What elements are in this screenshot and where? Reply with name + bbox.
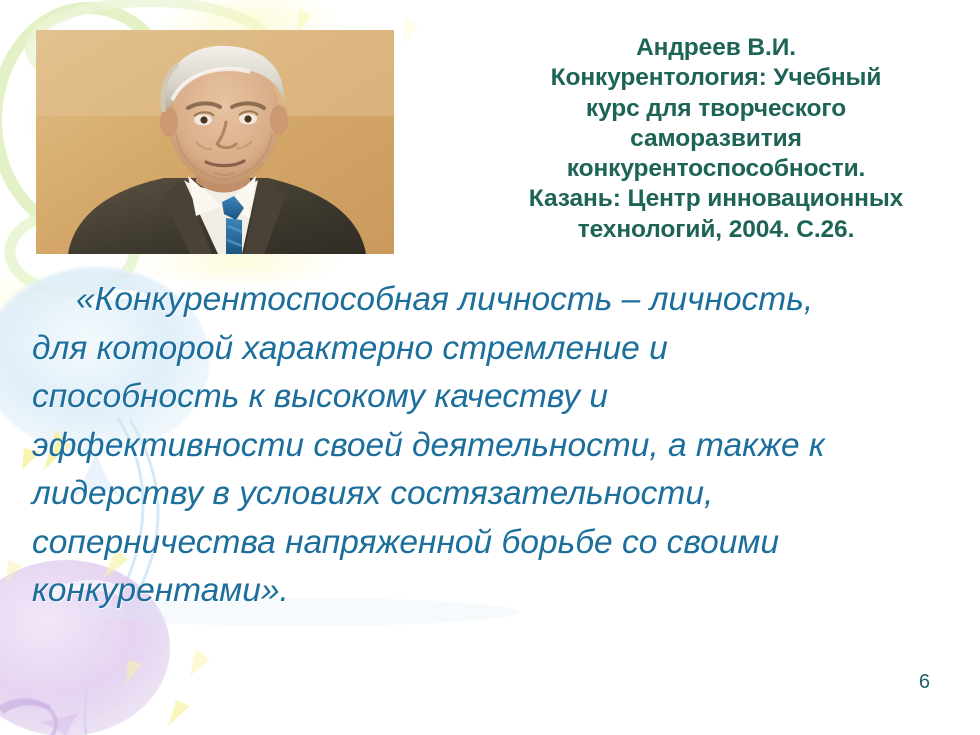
citation-line: курс для творческого	[470, 94, 962, 124]
citation-line: Казань: Центр инновационных	[470, 184, 962, 214]
citation-line: Конкурентология: Учебный	[470, 63, 962, 93]
quote-line: конкурентами».	[32, 567, 952, 616]
portrait-photo-andreev	[36, 30, 394, 254]
quote-block: «Конкурентоспособная личность – личность…	[32, 276, 952, 616]
quote-line: «Конкурентоспособная личность – личность…	[32, 276, 952, 325]
quote-line: для которой характерно стремление и	[32, 325, 952, 374]
quote-line: способность к высокому качеству и	[32, 373, 952, 422]
citation-line: Андреев В.И.	[470, 33, 962, 63]
citation-line: технологий, 2004. С.26.	[470, 215, 962, 245]
citation-line: саморазвития	[470, 124, 962, 154]
presentation-slide: Андреев В.И. Конкурентология: Учебный ку…	[0, 0, 980, 735]
quote-line: соперничества напряженной борьбе со свои…	[32, 519, 952, 568]
citation-line: конкурентоспособности.	[470, 154, 962, 184]
citation-block: Андреев В.И. Конкурентология: Учебный ку…	[470, 33, 962, 245]
page-number: 6	[919, 671, 930, 694]
quote-line: лидерству в условиях состязательности,	[32, 470, 952, 519]
quote-line: эффективности своей деятельности, а такж…	[32, 422, 952, 471]
